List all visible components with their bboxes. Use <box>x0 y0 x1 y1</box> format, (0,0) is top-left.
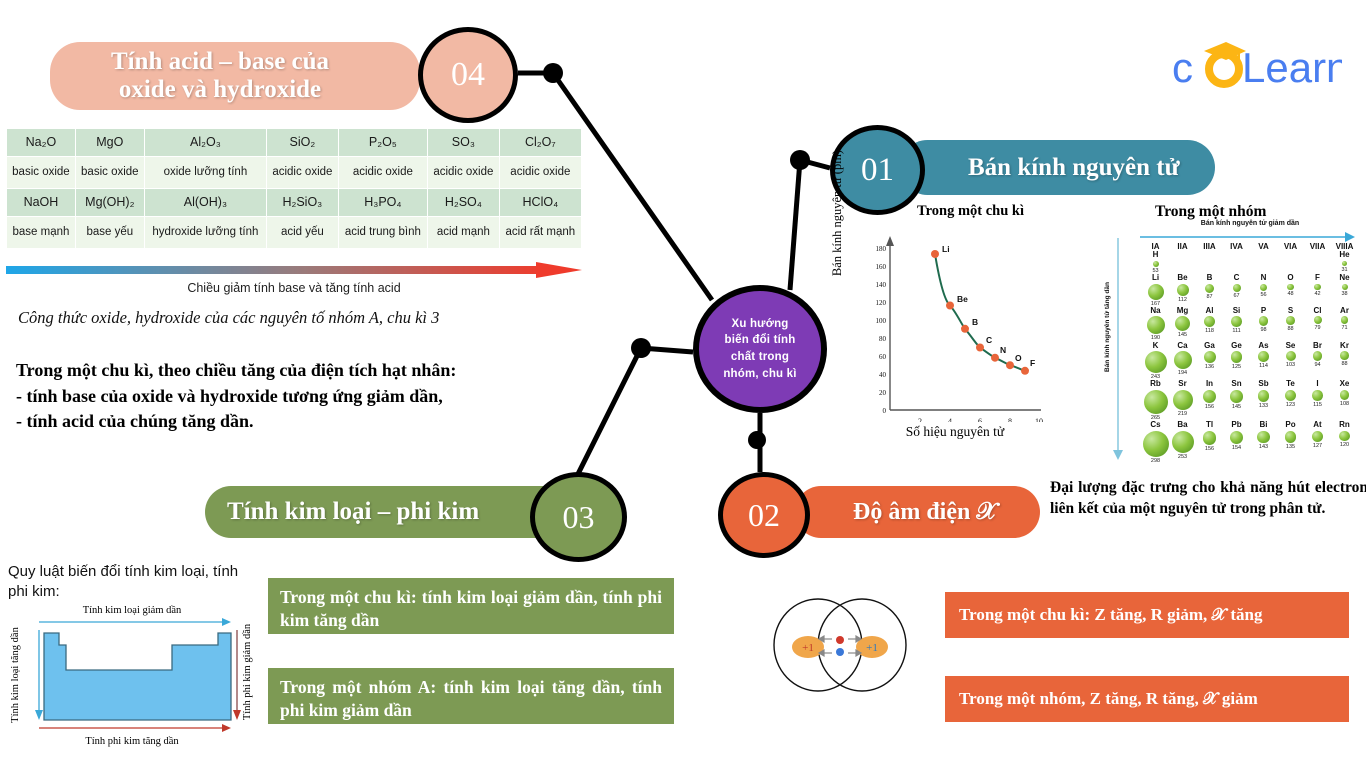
formula-caption: Công thức oxide, hydroxide của các nguyê… <box>18 308 618 328</box>
pt-element-symbol: B <box>1196 274 1223 283</box>
pt-element-ball <box>1233 284 1241 292</box>
pt-element-symbol: In <box>1196 380 1223 389</box>
metal-nonmetal-trend-diagram: Tính kim loại giảm dần Tính kim loại tăn… <box>4 600 254 750</box>
pt-element-ball <box>1285 390 1296 401</box>
svg-text:O: O <box>1015 353 1022 363</box>
pt-element-radius: 154 <box>1223 445 1250 451</box>
pt-element-symbol: P <box>1250 307 1277 316</box>
pt-period-row: Cs298Ba253Tl156Pb154Bi143Po135At127Rn120 <box>1142 421 1358 464</box>
logo-text-part1: c <box>1172 44 1193 91</box>
svg-text:140: 140 <box>876 281 887 289</box>
pt-element-ball <box>1230 431 1243 444</box>
table-row-oxide-formula: Na₂O MgO Al₂O₃ SiO₂ P₂O₅ SO₃ Cl₂O₇ <box>7 129 582 157</box>
cell: hydroxide lưỡng tính <box>144 217 266 249</box>
pt-left-arrow-label: Bán kính nguyên tử tăng dần <box>1104 282 1111 372</box>
pt-element-radius: 67 <box>1223 293 1250 299</box>
pt-element-grid: IAIIAIIIAIVAVAVIAVIIAVIIIAH53 He31Li167B… <box>1142 242 1358 464</box>
oxide-hydroxide-table: Na₂O MgO Al₂O₃ SiO₂ P₂O₅ SO₃ Cl₂O₇ basic… <box>6 128 582 249</box>
svg-text:Be: Be <box>957 294 968 304</box>
acid-base-gradient-arrow-icon <box>6 262 582 278</box>
pt-element-ball <box>1312 390 1322 400</box>
section-04-title-pill[interactable]: Tính acid – base của oxide và hydroxide <box>50 42 420 110</box>
pt-element-radius: 135 <box>1277 444 1304 450</box>
cell: acidic oxide <box>338 157 427 189</box>
cell: base yếu <box>75 217 144 249</box>
pt-element-radius: 111 <box>1223 328 1250 334</box>
pt-element-ball <box>1258 390 1270 402</box>
pt-element-Si: Si111 <box>1223 307 1250 342</box>
pt-element-symbol: Sb <box>1250 380 1277 389</box>
pt-element-ball <box>1287 284 1294 291</box>
pt-element-symbol: Be <box>1169 274 1196 283</box>
pt-element-ball <box>1144 390 1168 414</box>
svg-text:8: 8 <box>1008 417 1012 422</box>
pt-element-symbol: H <box>1142 251 1169 260</box>
cell: Al(OH)₃ <box>144 189 266 217</box>
pt-element-Sb: Sb133 <box>1250 380 1277 421</box>
pt-element-symbol: Tl <box>1196 421 1223 430</box>
pt-element-ball <box>1314 316 1322 324</box>
pt-element-radius: 156 <box>1196 404 1223 410</box>
pt-element-Bi: Bi143 <box>1250 421 1277 464</box>
pt-element-radius: 56 <box>1250 292 1277 298</box>
pt-element-symbol: Kr <box>1331 342 1358 351</box>
pt-element-ball <box>1313 351 1322 360</box>
pt-period-row: K243Ca194Ga136Ge125As114Se103Br94Kr88 <box>1142 342 1358 381</box>
section-04-number-node[interactable]: 04 <box>418 27 518 123</box>
pt-element-symbol: K <box>1142 342 1169 351</box>
pt-element-radius: 103 <box>1277 362 1304 368</box>
section-02-title: Độ âm điện 𝒳 <box>853 499 997 526</box>
pt-element-ball <box>1259 316 1269 326</box>
pt-element-radius: 79 <box>1304 325 1331 331</box>
cell: H₂SiO₃ <box>267 189 339 217</box>
pt-element-ball <box>1147 316 1165 334</box>
pt-element-At: At127 <box>1304 421 1331 464</box>
pt-element-ball <box>1260 284 1267 291</box>
pt-element-ball <box>1340 351 1349 360</box>
pt-element-symbol: Ga <box>1196 342 1223 351</box>
pt-element-Kr: Kr88 <box>1331 342 1358 381</box>
covalent-bond-diagram: +1 +1 <box>760 595 920 695</box>
pt-element-ball <box>1175 316 1190 331</box>
pt-element-radius: 108 <box>1331 401 1358 407</box>
pt-element-radius: 114 <box>1250 363 1277 369</box>
pt-element-symbol: Ar <box>1331 307 1358 316</box>
pt-element-radius: 136 <box>1196 364 1223 370</box>
cell: acid mạnh <box>428 217 500 249</box>
center-line-4: nhóm, chu kì <box>723 366 796 383</box>
pt-left-arrow-icon <box>1112 238 1124 460</box>
pt-element-symbol: At <box>1304 421 1331 430</box>
pt-empty-cell <box>1250 251 1277 274</box>
pt-element-Cs: Cs298 <box>1142 421 1169 464</box>
pt-element-Na: Na190 <box>1142 307 1169 342</box>
pt-element-ball <box>1231 316 1241 326</box>
pt-element-radius: 143 <box>1250 444 1277 450</box>
pt-element-radius: 156 <box>1196 446 1223 452</box>
pt-period-row: Na190Mg145Al118Si111P98S88Cl79Ar71 <box>1142 307 1358 342</box>
pt-empty-cell <box>1196 251 1223 274</box>
cell: acidic oxide <box>499 157 581 189</box>
pt-element-radius: 88 <box>1277 326 1304 332</box>
pt-element-symbol: Rn <box>1331 421 1358 430</box>
table-row-hydroxide-formula: NaOH Mg(OH)₂ Al(OH)₃ H₂SiO₃ H₃PO₄ H₂SO₄ … <box>7 189 582 217</box>
section-03-title-pill[interactable]: Tính kim loại – phi kim <box>205 486 585 538</box>
period-trend-line2: - tính base của oxide và hydroxide tương… <box>16 384 636 410</box>
section-04-title-line1: Tính acid – base của <box>111 48 329 76</box>
pt-element-ball <box>1341 316 1348 323</box>
metal-rule-caption: Quy luật biến đổi tính kim loại, tính ph… <box>8 562 258 603</box>
pt-period-row: Li167Be112B87C67N56O48F42Ne38 <box>1142 274 1358 307</box>
pt-element-symbol: He <box>1331 251 1358 260</box>
pt-empty-cell <box>1277 251 1304 274</box>
pt-element-ball <box>1205 284 1214 293</box>
pt-element-ball <box>1342 261 1347 266</box>
cell: basic oxide <box>75 157 144 189</box>
cell: Cl₂O₇ <box>499 129 581 157</box>
pt-element-radius: 98 <box>1250 327 1277 333</box>
pt-element-ball <box>1231 351 1242 362</box>
pt-element-Cl: Cl79 <box>1304 307 1331 342</box>
periodic-table-radius-figure: Bán kính nguyên tử giảm dần Bán kính ngu… <box>1110 222 1360 472</box>
pt-element-symbol: Bi <box>1250 421 1277 430</box>
pt-element-symbol: As <box>1250 342 1277 351</box>
pt-element-N: N56 <box>1250 274 1277 307</box>
pt-element-F: F42 <box>1304 274 1331 307</box>
pt-element-C: C67 <box>1223 274 1250 307</box>
period-trend-line3: - tính acid của chúng tăng dần. <box>16 409 636 435</box>
pt-element-ball <box>1145 351 1167 373</box>
svg-text:160: 160 <box>876 263 887 271</box>
period-trend-line1: Trong một chu kì, theo chiều tăng của đi… <box>16 358 636 384</box>
label-trong-mot-nhom: Trong một nhóm <box>1155 203 1266 221</box>
orange-box-group: Trong một nhóm, Z tăng, R tăng, 𝒳 giảm <box>945 676 1349 722</box>
table-row-hydroxide-type: base mạnh base yếu hydroxide lưỡng tính … <box>7 217 582 249</box>
pt-element-symbol: Ca <box>1169 342 1196 351</box>
pt-element-Al: Al118 <box>1196 307 1223 342</box>
pt-element-B: B87 <box>1196 274 1223 307</box>
pt-element-radius: 298 <box>1142 458 1169 464</box>
pt-element-symbol: F <box>1304 274 1331 283</box>
svg-text:B: B <box>972 317 978 327</box>
pt-element-symbol: O <box>1277 274 1304 283</box>
metal-diagram-bottom-label: Tính phi kim tăng dần <box>85 736 179 747</box>
pt-element-Be: Be112 <box>1169 274 1196 307</box>
section-01-title-pill[interactable]: Bán kính nguyên tử <box>900 140 1215 195</box>
right-charge-label: +1 <box>866 642 878 654</box>
svg-text:100: 100 <box>876 317 887 325</box>
pt-element-symbol: N <box>1250 274 1277 283</box>
pt-element-ball <box>1174 351 1192 369</box>
svg-text:F: F <box>1030 358 1035 368</box>
pt-element-symbol: Xe <box>1331 380 1358 389</box>
pt-element-ball <box>1339 431 1349 441</box>
period-trend-text: Trong một chu kì, theo chiều tăng của đi… <box>16 358 636 435</box>
pt-element-radius: 88 <box>1331 361 1358 367</box>
pt-element-Tl: Tl156 <box>1196 421 1223 464</box>
pt-element-radius: 112 <box>1169 297 1196 303</box>
pt-element-Ga: Ga136 <box>1196 342 1223 381</box>
pt-element-Sr: Sr219 <box>1169 380 1196 421</box>
pt-element-Ba: Ba253 <box>1169 421 1196 464</box>
pt-element-radius: 118 <box>1196 328 1223 334</box>
colearn-logo: c Learn <box>1172 38 1342 94</box>
pt-element-radius: 38 <box>1331 291 1358 297</box>
svg-text:60: 60 <box>879 353 887 361</box>
cell: basic oxide <box>7 157 76 189</box>
svg-text:0: 0 <box>883 407 887 415</box>
pt-element-ball <box>1314 284 1320 290</box>
pt-element-radius: 87 <box>1196 294 1223 300</box>
svg-text:4: 4 <box>948 417 952 422</box>
pt-element-symbol: Ne <box>1331 274 1358 283</box>
pt-element-Ge: Ge125 <box>1223 342 1250 381</box>
pt-element-Ca: Ca194 <box>1169 342 1196 381</box>
pt-period-row: H53 He31 <box>1142 251 1358 274</box>
pt-element-ball <box>1340 390 1350 400</box>
pt-element-ball <box>1143 431 1169 457</box>
pt-element-symbol: Rb <box>1142 380 1169 389</box>
pt-element-Ne: Ne38 <box>1331 274 1358 307</box>
pt-element-ball <box>1258 351 1269 362</box>
pt-element-Rn: Rn120 <box>1331 421 1358 464</box>
pt-element-symbol: S <box>1277 307 1304 316</box>
cell: acidic oxide <box>267 157 339 189</box>
pt-element-ball <box>1173 390 1193 410</box>
pt-period-row: Rb265Sr219In156Sn145Sb133Te123I115Xe108 <box>1142 380 1358 421</box>
pt-element-ball <box>1203 390 1216 403</box>
svg-text:N: N <box>1000 345 1006 355</box>
pt-element-He: He31 <box>1331 251 1358 274</box>
pt-element-radius: 219 <box>1169 411 1196 417</box>
gradient-arrow-caption: Chiều giảm tính base và tăng tính acid <box>6 281 582 295</box>
svg-text:20: 20 <box>879 389 887 397</box>
pt-element-symbol: Ge <box>1223 342 1250 351</box>
pt-element-ball <box>1257 431 1269 443</box>
center-line-1: Xu hướng <box>731 316 788 333</box>
pt-element-radius: 145 <box>1169 332 1196 338</box>
pt-element-radius: 120 <box>1331 442 1358 448</box>
pt-element-ball <box>1342 284 1348 290</box>
chart-y-axis-label: Bán kính nguyên tử (pm) <box>830 148 845 278</box>
pt-element-radius: 71 <box>1331 325 1358 331</box>
section-02-number-node[interactable]: 02 <box>718 472 810 558</box>
pt-element-Xe: Xe108 <box>1331 380 1358 421</box>
pt-element-ball <box>1286 316 1295 325</box>
svg-text:10: 10 <box>1035 417 1043 422</box>
pt-element-radius: 123 <box>1277 402 1304 408</box>
pt-element-symbol: Ba <box>1169 421 1196 430</box>
pt-element-symbol: Li <box>1142 274 1169 283</box>
pt-element-ball <box>1312 431 1323 442</box>
pt-element-I: I115 <box>1304 380 1331 421</box>
pt-element-Se: Se103 <box>1277 342 1304 381</box>
pt-element-symbol: Pb <box>1223 421 1250 430</box>
cell: P₂O₅ <box>338 129 427 157</box>
pt-element-Mg: Mg145 <box>1169 307 1196 342</box>
pt-element-P: P98 <box>1250 307 1277 342</box>
section-02-title-pill[interactable]: Độ âm điện 𝒳 <box>795 486 1040 538</box>
cell: acid trung bình <box>338 217 427 249</box>
cell: SO₃ <box>428 129 500 157</box>
pt-element-In: In156 <box>1196 380 1223 421</box>
pt-element-radius: 133 <box>1250 403 1277 409</box>
pt-element-ball <box>1286 351 1296 361</box>
pt-element-radius: 31 <box>1331 267 1358 273</box>
cell: Na₂O <box>7 129 76 157</box>
pt-element-Sn: Sn145 <box>1223 380 1250 421</box>
pt-element-ball <box>1203 431 1217 445</box>
pt-element-symbol: Br <box>1304 342 1331 351</box>
cell: acid rất mạnh <box>499 217 581 249</box>
pt-element-Li: Li167 <box>1142 274 1169 307</box>
pt-element-ball <box>1204 316 1215 327</box>
green-box-group: Trong một nhóm A: tính kim loại tăng dần… <box>268 668 674 724</box>
section-04-title-line2: oxide và hydroxide <box>111 76 329 104</box>
pt-element-ball <box>1153 261 1159 267</box>
pt-element-radius: 145 <box>1223 404 1250 410</box>
svg-text:C: C <box>986 335 992 345</box>
cell: acid yếu <box>267 217 339 249</box>
pt-element-ball <box>1285 431 1297 443</box>
pt-element-symbol: I <box>1304 380 1331 389</box>
green-box-period: Trong một chu kì: tính kim loại giảm dần… <box>268 578 674 634</box>
pt-element-Br: Br94 <box>1304 342 1331 381</box>
pt-element-symbol: Sr <box>1169 380 1196 389</box>
svg-text:40: 40 <box>879 371 887 379</box>
pt-element-ball <box>1172 431 1194 453</box>
cell: Mg(OH)₂ <box>75 189 144 217</box>
pt-element-symbol: Al <box>1196 307 1223 316</box>
pt-top-arrow-label: Bán kính nguyên tử giảm dần <box>1150 220 1350 227</box>
section-01-title: Bán kính nguyên tử <box>968 154 1180 182</box>
pt-element-ball <box>1148 284 1164 300</box>
label-trong-mot-chu-ki: Trong một chu kì <box>917 203 1024 220</box>
metal-diagram-right-label: Tính phi kim giảm dần <box>242 623 253 720</box>
svg-text:2: 2 <box>918 417 922 422</box>
pt-element-K: K243 <box>1142 342 1169 381</box>
electronegativity-description: Đại lượng đặc trưng cho khả năng hút ele… <box>1050 478 1366 520</box>
chart-x-axis-label: Số hiệu nguyên tử <box>880 424 1030 440</box>
cell: H₃PO₄ <box>338 189 427 217</box>
pt-element-Po: Po135 <box>1277 421 1304 464</box>
pt-element-symbol: Mg <box>1169 307 1196 316</box>
pt-element-symbol: Sn <box>1223 380 1250 389</box>
pt-element-ball <box>1177 284 1189 296</box>
section-03-title: Tính kim loại – phi kim <box>227 498 479 526</box>
logo-text-part3: Learn <box>1242 44 1342 91</box>
pt-element-symbol: Po <box>1277 421 1304 430</box>
pt-element-Ar: Ar71 <box>1331 307 1358 342</box>
pt-empty-cell <box>1169 251 1196 274</box>
pt-element-symbol: Se <box>1277 342 1304 351</box>
center-line-3: chất trong <box>731 349 789 366</box>
cell: acidic oxide <box>428 157 500 189</box>
pt-element-radius: 253 <box>1169 454 1196 460</box>
table-row-oxide-type: basic oxide basic oxide oxide lưỡng tính… <box>7 157 582 189</box>
pt-element-As: As114 <box>1250 342 1277 381</box>
pt-element-radius: 48 <box>1277 291 1304 297</box>
pt-element-Rb: Rb265 <box>1142 380 1169 421</box>
pt-element-radius: 115 <box>1304 402 1331 408</box>
pt-element-symbol: Cl <box>1304 307 1331 316</box>
pt-element-H: H53 <box>1142 251 1169 274</box>
pt-element-Te: Te123 <box>1277 380 1304 421</box>
pt-element-symbol: Te <box>1277 380 1304 389</box>
pt-element-radius: 125 <box>1223 364 1250 370</box>
cell: SiO₂ <box>267 129 339 157</box>
metal-diagram-top-label: Tính kim loại giảm dần <box>83 605 182 616</box>
pt-element-symbol: C <box>1223 274 1250 283</box>
svg-text:Li: Li <box>942 244 950 254</box>
pt-element-O: O48 <box>1277 274 1304 307</box>
pt-element-symbol: Cs <box>1142 421 1169 430</box>
left-charge-label: +1 <box>802 642 814 654</box>
pt-element-symbol: Na <box>1142 307 1169 316</box>
atomic-radius-chart: 02040 6080100 120140160 180 246 810 LiBe… <box>836 232 1051 447</box>
pt-empty-cell <box>1223 251 1250 274</box>
pt-element-ball <box>1204 351 1216 363</box>
pt-element-radius: 194 <box>1169 370 1196 376</box>
pt-element-symbol: Si <box>1223 307 1250 316</box>
cell: oxide lưỡng tính <box>144 157 266 189</box>
center-line-2: biến đổi tính <box>725 332 796 349</box>
cell: MgO <box>75 129 144 157</box>
pt-element-S: S88 <box>1277 307 1304 342</box>
svg-text:80: 80 <box>879 335 887 343</box>
pt-element-radius: 42 <box>1304 291 1331 297</box>
cell: HClO₄ <box>499 189 581 217</box>
svg-text:6: 6 <box>978 417 982 422</box>
pt-element-radius: 94 <box>1304 362 1331 368</box>
pt-element-radius: 127 <box>1304 443 1331 449</box>
cell: Al₂O₃ <box>144 129 266 157</box>
section-03-number-node[interactable]: 03 <box>530 472 627 562</box>
cell: base mạnh <box>7 217 76 249</box>
pt-empty-cell <box>1304 251 1331 274</box>
pt-element-Pb: Pb154 <box>1223 421 1250 464</box>
pt-element-ball <box>1230 390 1243 403</box>
metal-diagram-left-label: Tính kim loại tăng dần <box>10 626 21 722</box>
svg-text:180: 180 <box>876 245 887 253</box>
svg-text:120: 120 <box>876 299 887 307</box>
cell: H₂SO₄ <box>428 189 500 217</box>
orange-box-period: Trong một chu kì: Z tăng, R giảm, 𝒳 tăng <box>945 592 1349 638</box>
cell: NaOH <box>7 189 76 217</box>
center-topic-node[interactable]: Xu hướng biến đổi tính chất trong nhóm, … <box>693 285 827 413</box>
